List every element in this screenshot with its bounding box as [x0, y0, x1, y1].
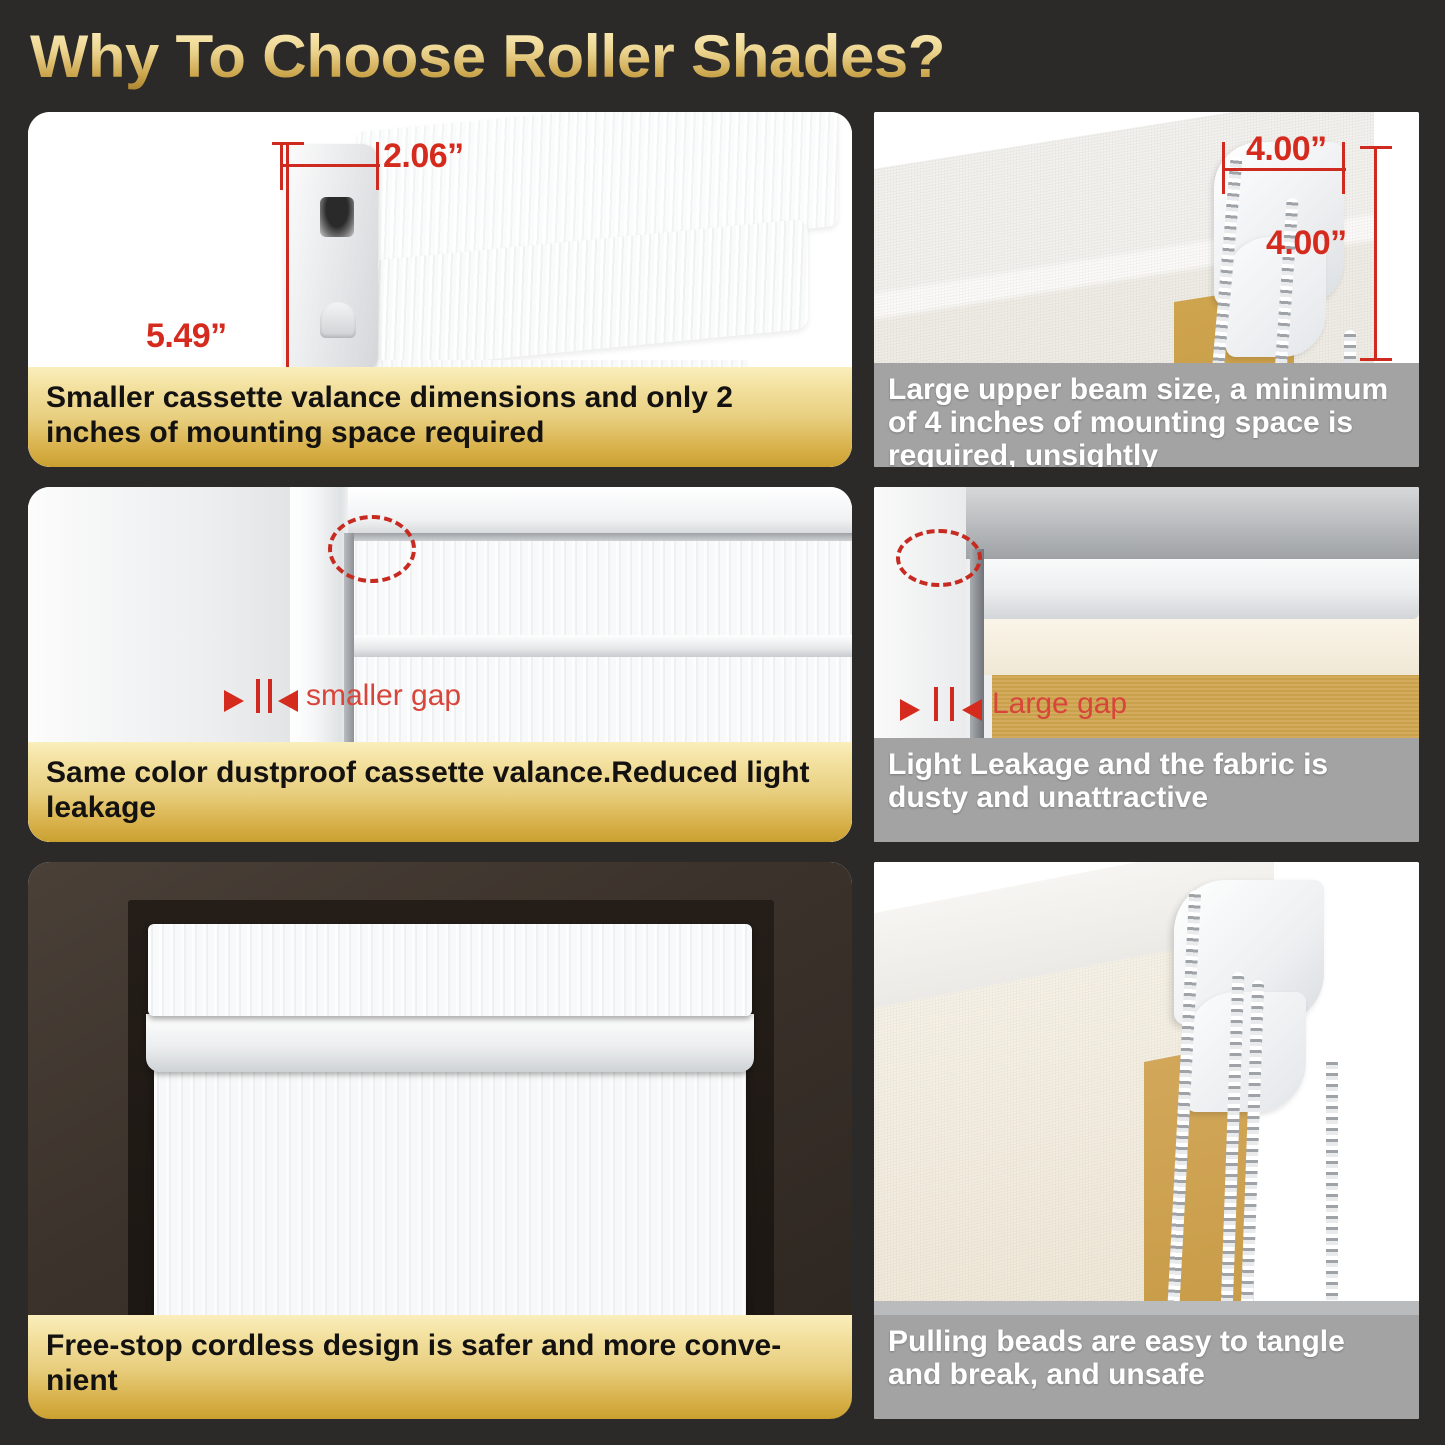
gap-arrow-left-icon	[224, 690, 244, 712]
gap-arrow-left-icon	[900, 699, 920, 721]
caption-large-upper-beam: Large upper beam size, a minimum of 4 in…	[874, 363, 1419, 467]
shade-middle-rail	[352, 635, 852, 657]
annotation-large-gap: Large gap	[992, 687, 1127, 721]
caption-cassette-valance-dimensions: Smaller cassette valance dimensions and …	[28, 367, 852, 467]
caption-pulling-beads: Pulling beads are easy to tangle and bre…	[874, 1315, 1419, 1419]
infographic-page: Why To Choose Roller Shades? 2.06” 5.49”…	[0, 0, 1445, 1445]
dim-tick-height-top	[272, 142, 304, 145]
panel-dustproof-cassette-valance: smaller gap Same color dustproof cassett…	[28, 487, 852, 842]
valance-mount-slot-icon	[320, 197, 354, 237]
dimension-label-width: 2.06”	[383, 137, 464, 176]
valance-end-cap	[283, 144, 378, 374]
gap-tick-left	[934, 687, 938, 721]
dimension-label-beam-width: 4.00”	[1246, 130, 1327, 169]
cassette-gap-line	[348, 533, 852, 541]
dim-tick-beam-height-bottom	[1360, 358, 1392, 361]
gap-arrow-right-icon	[962, 699, 982, 721]
gray-wall-band	[966, 487, 1419, 559]
dim-line-width	[280, 164, 380, 167]
photo-bottom-shadow	[874, 1301, 1419, 1315]
panel-pulling-beads: Pulling beads are easy to tangle and bre…	[874, 862, 1419, 1419]
dim-tick-beam-height-top	[1360, 146, 1392, 149]
annotation-smaller-gap: smaller gap	[306, 679, 461, 713]
gap-tick-left	[256, 679, 260, 713]
cassette-valance	[148, 924, 752, 1016]
caption-light-leakage: Light Leakage and the fabric is dusty an…	[874, 738, 1419, 842]
gap-tick-right	[950, 687, 954, 721]
gap-tick-right	[268, 679, 272, 713]
panel-large-upper-beam: 4.00” 4.00” Large upper beam size, a min…	[874, 112, 1419, 467]
caption-dustproof-cassette-valance: Same color dustproof cassette valance.Re…	[28, 742, 852, 842]
dim-line-beam-height	[1374, 146, 1377, 361]
highlight-ellipse-icon	[896, 529, 982, 587]
upper-beam	[970, 549, 1419, 619]
gap-arrow-right-icon	[278, 690, 298, 712]
panel-cassette-valance-dimensions: 2.06” 5.49” Smaller cassette valance dim…	[28, 112, 852, 467]
highlight-ellipse-icon	[328, 515, 416, 583]
valance-screw-boss-icon	[320, 302, 356, 338]
caption-free-stop-cordless: Free-stop cordless design is safer and m…	[28, 1315, 852, 1419]
dimension-label-height: 5.49”	[146, 317, 227, 356]
panel-light-leakage: Large gap Light Leakage and the fabric i…	[874, 487, 1419, 842]
cream-valance-strip	[984, 613, 1419, 675]
panel-free-stop-cordless: Free-stop cordless design is safer and m…	[28, 862, 852, 1419]
shade-roll-tube	[146, 1014, 754, 1072]
dimension-label-beam-height: 4.00”	[1266, 224, 1347, 263]
page-title: Why To Choose Roller Shades?	[30, 22, 945, 91]
bracket-lower	[1186, 992, 1306, 1112]
